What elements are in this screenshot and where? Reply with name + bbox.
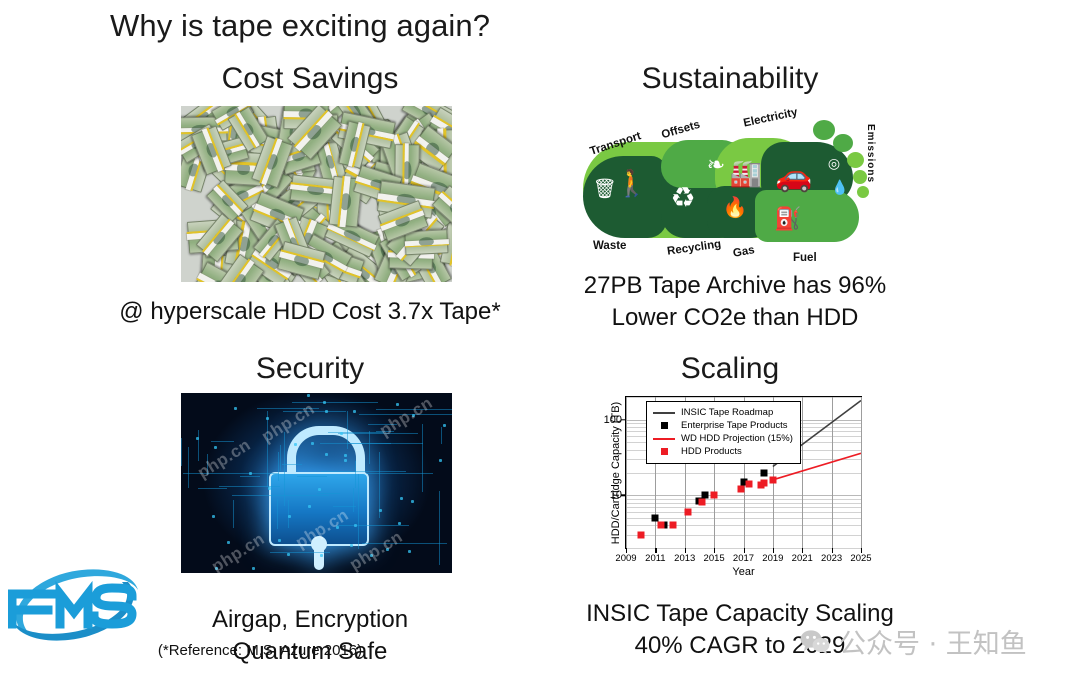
fms-logo <box>8 552 140 650</box>
circuit-trace <box>376 431 395 432</box>
footprint-toe <box>847 152 864 168</box>
circuit-trace <box>292 402 378 403</box>
circuit-pad <box>227 541 230 544</box>
circuit-trace <box>283 411 346 412</box>
chart-point <box>684 508 691 515</box>
circuit-trace <box>207 454 208 475</box>
circuit-trace <box>278 452 279 481</box>
circuit-trace <box>439 491 440 566</box>
chart-point <box>746 481 753 488</box>
chart-x-axis-label: Year <box>626 566 861 578</box>
flame-icon: 🔥 <box>725 198 745 218</box>
footprint-toe <box>813 120 835 140</box>
footprint-label: Recycling <box>666 238 721 257</box>
circuit-trace <box>297 476 327 477</box>
circuit-pad <box>287 553 290 556</box>
circuit-pad <box>278 539 281 542</box>
circuit-trace <box>257 408 319 409</box>
footprint-toe <box>857 186 869 198</box>
quadrant-title-sustainability: Sustainability <box>560 62 900 96</box>
footprint-segment <box>755 190 859 242</box>
circuit-trace <box>188 447 189 488</box>
chart-legend-swatch <box>653 447 675 456</box>
leaf-icon: ❧ <box>705 154 727 176</box>
circuit-pad <box>353 410 356 413</box>
chart-x-tick-label: 2009 <box>615 553 636 564</box>
circuit-pad <box>320 554 323 557</box>
circuit-pad <box>266 417 269 420</box>
circuit-trace <box>270 552 330 553</box>
footprint-label: Electricity <box>742 106 798 129</box>
circuit-pad <box>325 453 328 456</box>
wechat-icon <box>800 629 830 655</box>
padlock-circuit-image: php.cnphp.cnphp.cnphp.cnphp.cnphp.cn <box>181 393 452 573</box>
chart-x-tick-label: 2025 <box>850 553 871 564</box>
chart-legend-item: HDD Products <box>653 445 793 458</box>
footprint-label: Offsets <box>660 119 701 141</box>
wechat-watermark-text: 公众号 · 王知鱼 <box>839 622 1027 661</box>
circuit-pad <box>234 407 237 410</box>
circuit-trace <box>358 474 359 549</box>
circuit-pad <box>325 410 328 413</box>
circuit-pad <box>344 454 347 457</box>
chart-point <box>699 498 706 505</box>
circuit-trace <box>336 525 409 526</box>
chart-x-tick-label: 2013 <box>674 553 695 564</box>
circuit-pad <box>412 414 415 417</box>
scaling-chart: HDD/Cartridge Capacity (TB) Year INSIC T… <box>578 388 868 583</box>
chart-x-tick-label: 2021 <box>792 553 813 564</box>
circuit-trace <box>183 473 279 474</box>
circuit-pad <box>308 505 311 508</box>
circuit-trace <box>198 430 199 461</box>
chart-x-tick-label: 2015 <box>704 553 725 564</box>
chart-point <box>652 514 659 521</box>
circuit-pad <box>196 437 199 440</box>
circuit-pad <box>370 554 373 557</box>
person-icon: 🚶 <box>619 170 645 196</box>
footprint-label: Fuel <box>793 252 817 264</box>
chart-point <box>637 531 644 538</box>
footprint-label: Gas <box>732 244 756 260</box>
circuit-pad <box>212 515 215 518</box>
circuit-pad <box>411 500 414 503</box>
money-stacks-image <box>181 106 452 282</box>
circuit-pad <box>268 487 271 490</box>
circuit-trace <box>441 427 442 444</box>
slide-headline: Why is tape exciting again? <box>110 8 490 44</box>
chart-x-tick-label: 2011 <box>645 553 665 564</box>
circuit-trace <box>320 443 391 444</box>
circuit-pad <box>340 432 343 435</box>
circuit-trace <box>277 499 278 529</box>
circuit-trace <box>267 411 268 487</box>
chart-legend-label: WD HDD Projection (15%) <box>681 432 793 445</box>
circuit-pad <box>408 550 411 553</box>
circuit-trace <box>338 433 418 434</box>
circuit-trace <box>376 409 452 410</box>
chart-point <box>737 486 744 493</box>
circuit-pad <box>354 524 357 527</box>
chart-legend-label: HDD Products <box>681 445 742 458</box>
circuit-trace <box>379 452 380 518</box>
circuit-trace <box>181 438 182 466</box>
circuit-trace <box>232 495 329 496</box>
carbon-footprint-graphic: 🗑🚶♻❧🏭🚗🔥⛽◎💧WasteTransportOffsetsRecycling… <box>565 108 895 263</box>
wechat-watermark: 公众号 · 王知鱼 <box>800 622 1027 661</box>
chart-legend-item: WD HDD Projection (15%) <box>653 432 793 445</box>
footprint-label-emissions: Emissions <box>865 124 876 183</box>
circuit-trace <box>282 464 302 465</box>
chart-x-tick-label: 2019 <box>762 553 783 564</box>
co2-icon: ◎ <box>827 156 841 170</box>
circuit-pad <box>350 544 353 547</box>
circuit-pad <box>386 548 389 551</box>
chart-y-tick-label: 100 <box>604 414 622 426</box>
quadrant-title-scaling: Scaling <box>560 352 900 386</box>
presentation-slide: Why is tape exciting again? Cost Savings… <box>0 0 1080 687</box>
chart-x-tick-label: 2017 <box>733 553 754 564</box>
chart-point <box>658 522 665 529</box>
circuit-pad <box>396 403 399 406</box>
circuit-pad <box>318 488 321 491</box>
dollar-bill-stack <box>405 229 449 255</box>
circuit-trace <box>233 500 234 528</box>
chart-point <box>761 469 768 476</box>
circuit-trace <box>240 476 260 477</box>
circuit-pad <box>400 497 403 500</box>
factory-icon: 🏭 <box>733 160 759 186</box>
chart-legend-swatch <box>653 408 675 417</box>
chart-legend-item: INSIC Tape Roadmap <box>653 406 793 419</box>
chart-point <box>711 492 718 499</box>
circuit-pad <box>311 442 314 445</box>
chart-point <box>761 480 768 487</box>
trash-icon: 🗑 <box>595 180 614 199</box>
chart-legend-swatch <box>653 434 675 443</box>
circuit-pad <box>439 459 442 462</box>
circuit-pad <box>344 459 347 462</box>
circuit-trace <box>422 424 423 491</box>
circuit-trace <box>359 414 452 415</box>
circuit-trace <box>284 432 285 506</box>
fuel-pump-icon: ⛽ <box>777 208 799 230</box>
recycle-icon: ♻ <box>669 184 697 212</box>
circuit-pad <box>215 567 218 570</box>
circuit-pad <box>443 424 446 427</box>
chart-legend: INSIC Tape RoadmapEnterprise Tape Produc… <box>646 401 801 464</box>
circuit-trace <box>317 493 339 494</box>
chart-legend-label: Enterprise Tape Products <box>681 419 788 432</box>
chart-point <box>769 476 776 483</box>
chart-point <box>670 522 677 529</box>
circuit-trace <box>362 543 448 544</box>
circuit-pad <box>252 567 255 570</box>
chart-legend-swatch <box>653 421 675 430</box>
circuit-trace <box>369 431 370 464</box>
circuit-pad <box>398 522 401 525</box>
circuit-trace <box>198 488 227 489</box>
chart-legend-item: Enterprise Tape Products <box>653 419 793 432</box>
circuit-trace <box>288 500 289 528</box>
quadrant-title-cost-savings: Cost Savings <box>0 62 620 96</box>
circuit-trace <box>321 471 406 472</box>
chart-plot-area: HDD/Cartridge Capacity (TB) Year INSIC T… <box>625 396 862 549</box>
water-drop-icon: 💧 <box>833 180 847 194</box>
circuit-trace <box>368 424 398 425</box>
circuit-pad <box>288 515 291 518</box>
circuit-trace <box>211 441 234 442</box>
circuit-trace <box>355 461 356 488</box>
circuit-pad <box>336 526 339 529</box>
circuit-pad <box>379 509 382 512</box>
circuit-trace <box>280 445 281 470</box>
chart-gridline-vertical <box>861 397 862 548</box>
footprint-toe <box>833 134 853 152</box>
circuit-pad <box>214 446 217 449</box>
circuit-trace <box>353 488 354 512</box>
caption-cost-savings: @ hyperscale HDD Cost 3.7x Tape* <box>0 296 620 328</box>
chart-legend-label: INSIC Tape Roadmap <box>681 406 773 419</box>
circuit-pad <box>323 401 326 404</box>
quadrant-title-security: Security <box>0 352 620 386</box>
chart-x-tick-label: 2023 <box>821 553 842 564</box>
circuit-pad <box>307 394 310 397</box>
caption-sustainability: 27PB Tape Archive has 96%Lower CO2e than… <box>545 270 925 333</box>
footprint-label: Waste <box>593 240 626 252</box>
car-icon: 🚗 <box>779 162 809 192</box>
